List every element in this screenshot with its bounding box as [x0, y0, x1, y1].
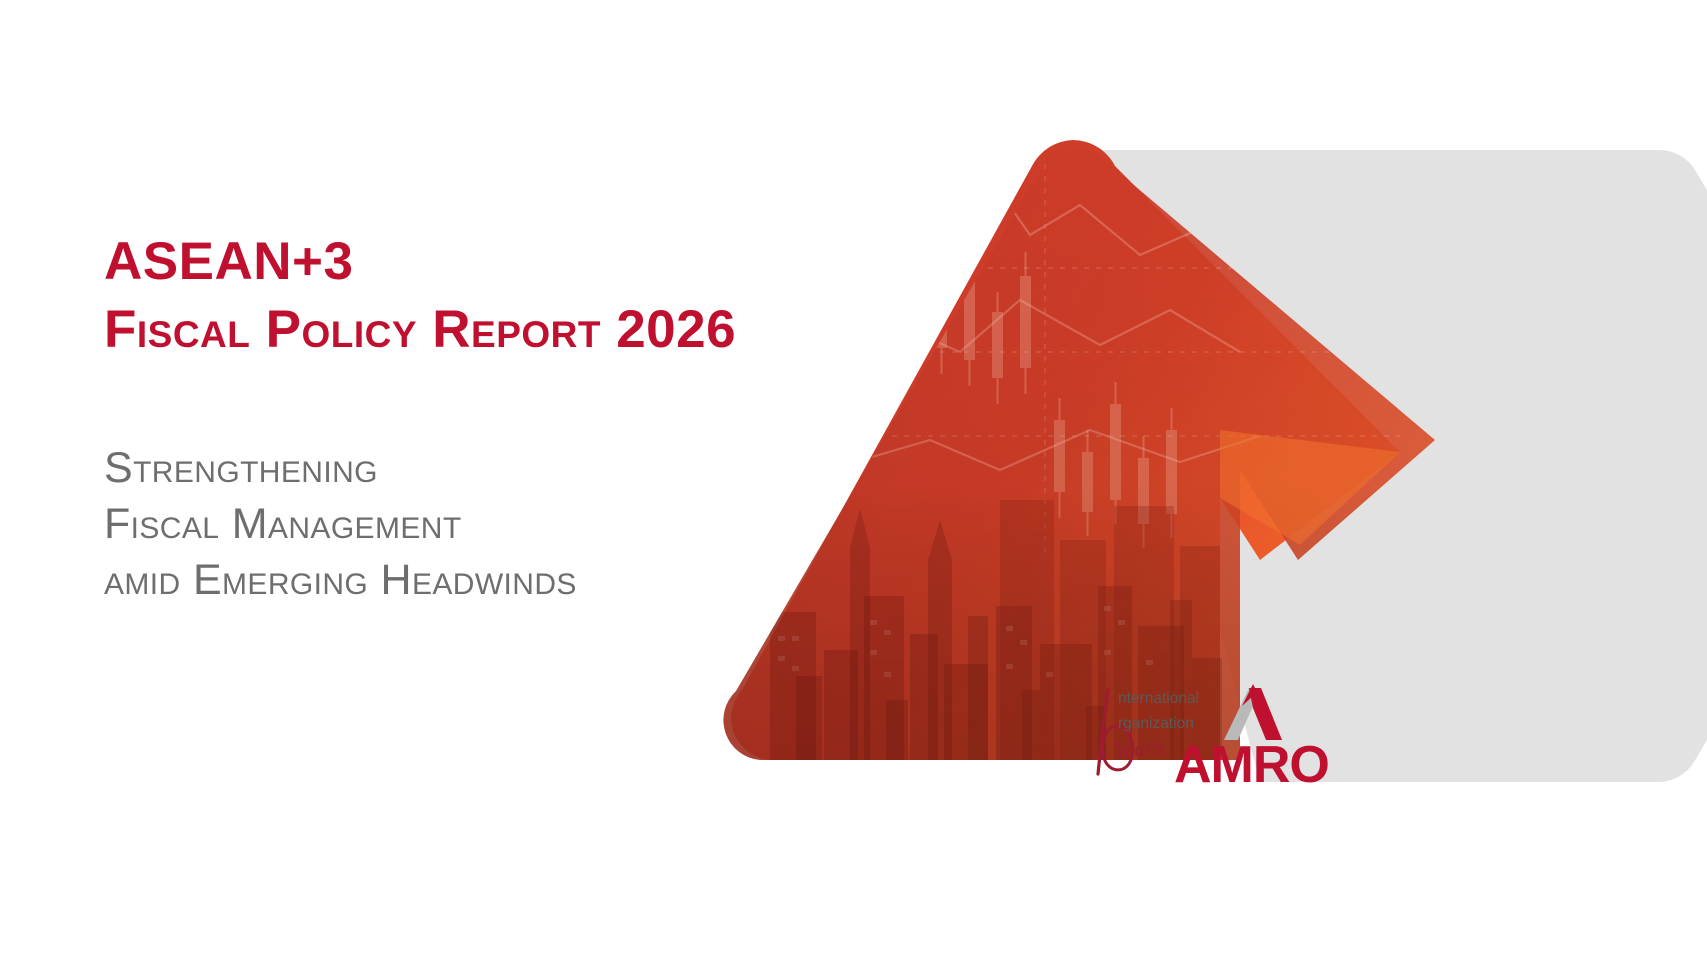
amro-wordmark: AMRO: [1174, 738, 1329, 792]
anniversary-line-3: Years: [1113, 734, 1164, 765]
amro-logo-lockup: nternational rganization Years AMRO: [1088, 676, 1358, 792]
amro-a-mark-icon: [1220, 678, 1286, 744]
anniversary-line-1: nternational: [1118, 686, 1199, 711]
anniversary-line-2: rganization: [1118, 711, 1194, 736]
cover-artwork: [700, 0, 1707, 960]
report-cover-page: ASEAN+3 Fiscal Policy Report 2026 Streng…: [0, 0, 1707, 960]
artwork-svg: [700, 0, 1707, 960]
